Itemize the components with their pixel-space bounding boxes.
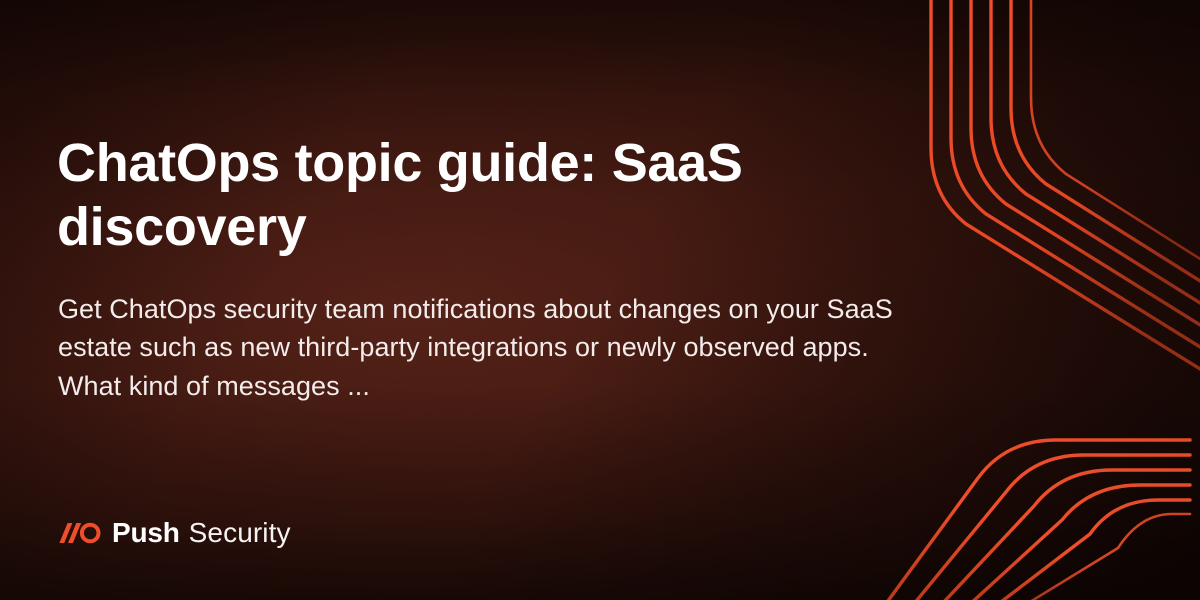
page-title: ChatOps topic guide: SaaS discovery [57, 131, 877, 260]
social-share-card: ChatOps topic guide: SaaS discovery Get … [0, 0, 1200, 600]
card-content: ChatOps topic guide: SaaS discovery Get … [57, 0, 917, 600]
logo-name-bold: Push [112, 519, 180, 547]
push-logo-mark-icon [57, 521, 101, 545]
page-description: Get ChatOps security team notifications … [58, 290, 918, 405]
push-security-logo: Push Security [57, 516, 291, 550]
logo-name-light: Security [189, 519, 291, 547]
